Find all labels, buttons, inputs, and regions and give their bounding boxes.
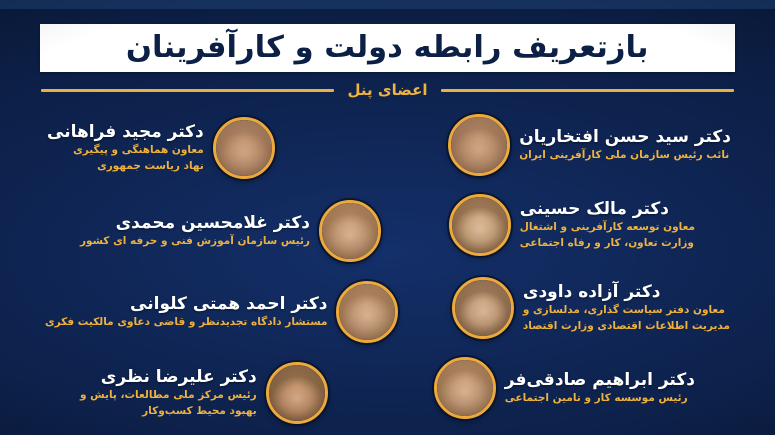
- panelist-role-line: رئیس مرکز ملی مطالعات، پایش و: [80, 388, 257, 403]
- panelist-role-line: مدیریت اطلاعات اقتصادی وزارت اقتصاد: [523, 319, 730, 334]
- panelist-role-line: نائب رئیس سازمان ملی کارآفرینی ایران: [519, 148, 729, 163]
- panelist-role-line: معاون توسعه کارآفرینی و اشتغال: [520, 220, 695, 235]
- avatar-shading: [322, 203, 378, 259]
- avatar: [319, 200, 381, 262]
- panelist-role-line: رئیس موسسه کار و تامین اجتماعی: [505, 391, 688, 406]
- panelist-card[interactable]: دکتر سید حسن افتخاریان نائب رئیس سازمان …: [448, 114, 731, 176]
- panelist-card[interactable]: دکتر آزاده داودی معاون دفتر سیاست گذاری،…: [452, 277, 730, 339]
- avatar: [266, 362, 328, 424]
- panelist-role-line: نهاد ریاست جمهوری: [97, 159, 204, 174]
- panelist-name: دکتر غلامحسین محمدی: [116, 213, 310, 234]
- divider-line-left: [41, 89, 334, 92]
- avatar: [452, 277, 514, 339]
- panelist-name: دکتر احمد همتی کلوانی: [130, 294, 327, 315]
- panel-poster: بازتعریف رابطه دولت و کارآفرینان اعضای پ…: [0, 0, 775, 435]
- avatar-shading: [437, 360, 493, 416]
- avatar: [434, 357, 496, 419]
- avatar-shading: [269, 365, 325, 421]
- panelist-name: دکتر ابراهیم صادقی‌فر: [505, 370, 695, 391]
- panelist-role-line: رئیس سازمان آموزش فنی و حرفه ای کشور: [80, 234, 310, 249]
- panelist-card[interactable]: دکتر احمد همتی کلوانی مستشار دادگاه تجدی…: [45, 281, 398, 343]
- panelist-name: دکتر مالک حسینی: [520, 199, 669, 220]
- page-title: بازتعریف رابطه دولت و کارآفرینان: [126, 33, 649, 63]
- avatar: [213, 117, 275, 179]
- panelist-card[interactable]: دکتر ابراهیم صادقی‌فر رئیس موسسه کار و ت…: [434, 357, 695, 419]
- subheading-label: اعضای پنل: [344, 81, 432, 99]
- avatar: [449, 194, 511, 256]
- panelist-card[interactable]: دکتر غلامحسین محمدی رئیس سازمان آموزش فن…: [80, 200, 381, 262]
- avatar-shading: [339, 284, 395, 340]
- panelist-name: دکتر آزاده داودی: [523, 282, 661, 303]
- divider-line-right: [441, 89, 734, 92]
- panelist-role-line: بهبود محیط کسب‌وکار: [142, 404, 257, 419]
- panelist-card[interactable]: دکتر مالک حسینی معاون توسعه کارآفرینی و …: [449, 194, 695, 256]
- avatar-shading: [455, 280, 511, 336]
- panelist-name: دکتر سید حسن افتخاریان: [519, 127, 731, 148]
- panelist-name: دکتر علیرضا نظری: [101, 367, 257, 388]
- panelist-role-line: مستشار دادگاه تجدیدنظر و قاضی دعاوی مالک…: [45, 315, 327, 330]
- avatar: [336, 281, 398, 343]
- avatar-shading: [451, 117, 507, 173]
- subheading-row: اعضای پنل: [40, 78, 735, 102]
- panelist-role-line: معاون دفتر سیاست گذاری، مدلسازی و: [523, 303, 725, 318]
- poster-title-box: بازتعریف رابطه دولت و کارآفرینان: [40, 24, 735, 72]
- panelist-role-line: معاون هماهنگی و پیگیری: [73, 143, 204, 158]
- panelist-role-line: وزارت تعاون، کار و رفاه اجتماعی: [520, 236, 694, 251]
- panelist-card[interactable]: دکتر مجید فراهانی معاون هماهنگی و پیگیری…: [47, 117, 275, 179]
- avatar-shading: [216, 120, 272, 176]
- avatar-shading: [452, 197, 508, 253]
- panelist-card[interactable]: دکتر علیرضا نظری رئیس مرکز ملی مطالعات، …: [80, 362, 328, 424]
- avatar: [448, 114, 510, 176]
- panelist-name: دکتر مجید فراهانی: [47, 122, 204, 143]
